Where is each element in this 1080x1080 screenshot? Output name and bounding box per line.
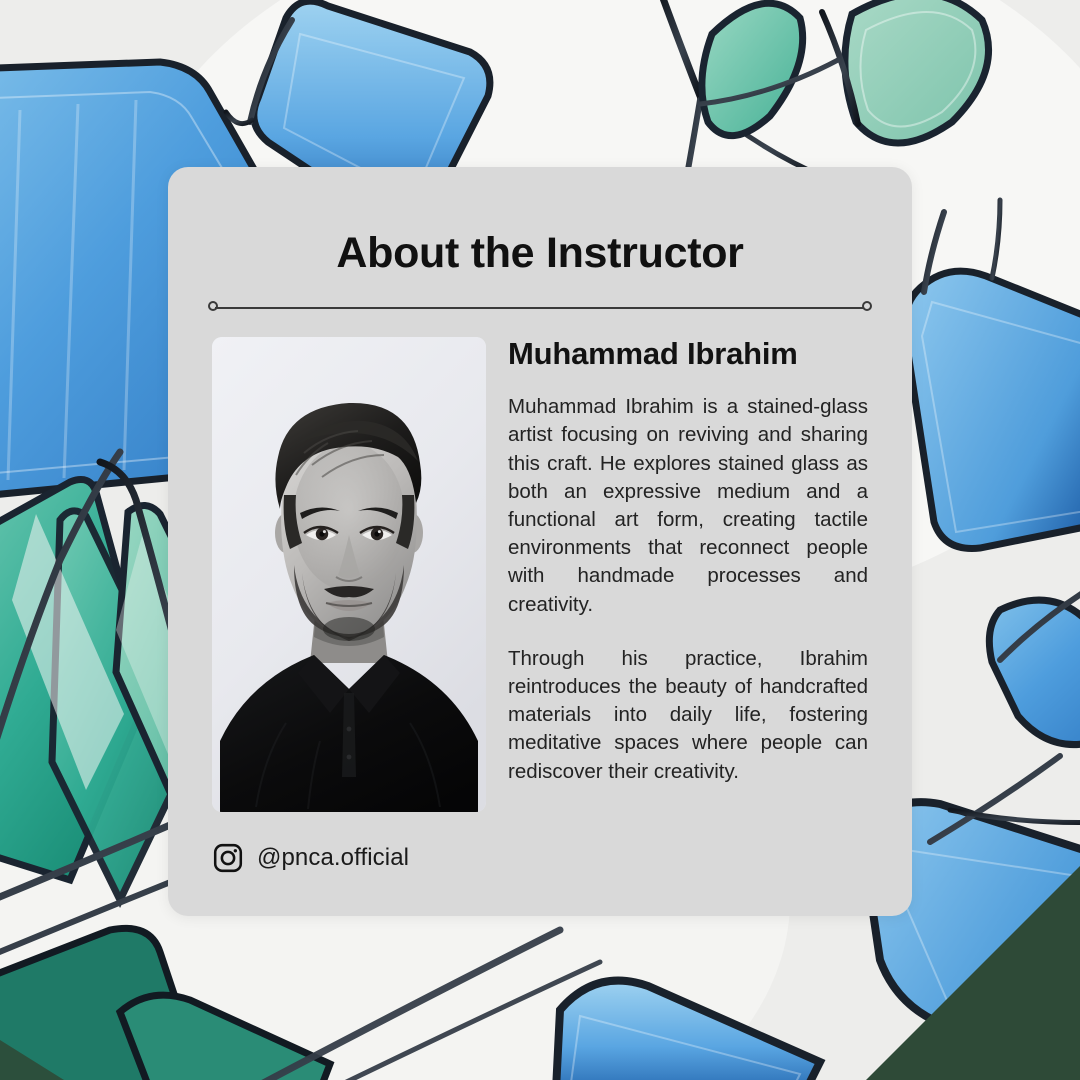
divider-line bbox=[215, 307, 865, 309]
instructor-bio-paragraph-2: Through his practice, Ibrahim reintroduc… bbox=[508, 645, 868, 786]
instructor-body: Muhammad Ibrahim Muhammad Ibrahim is a s… bbox=[212, 337, 868, 916]
page-title: About the Instructor bbox=[168, 229, 912, 278]
title-divider bbox=[208, 301, 872, 315]
instructor-card: About the Instructor bbox=[168, 167, 912, 916]
poster-canvas: About the Instructor bbox=[0, 0, 1080, 1080]
instructor-text-column: Muhammad Ibrahim Muhammad Ibrahim is a s… bbox=[508, 337, 868, 786]
instagram-icon[interactable] bbox=[212, 842, 244, 874]
portrait-illustration bbox=[212, 337, 486, 812]
divider-dot-left bbox=[208, 301, 218, 311]
divider-dot-right bbox=[862, 301, 872, 311]
instructor-name: Muhammad Ibrahim bbox=[508, 337, 868, 371]
instructor-photo bbox=[212, 337, 486, 812]
social-handle-text: @pnca.official bbox=[257, 844, 409, 872]
instructor-bio-paragraph-1: Muhammad Ibrahim is a stained-glass arti… bbox=[508, 393, 868, 619]
social-handle[interactable]: @pnca.official bbox=[212, 842, 409, 874]
